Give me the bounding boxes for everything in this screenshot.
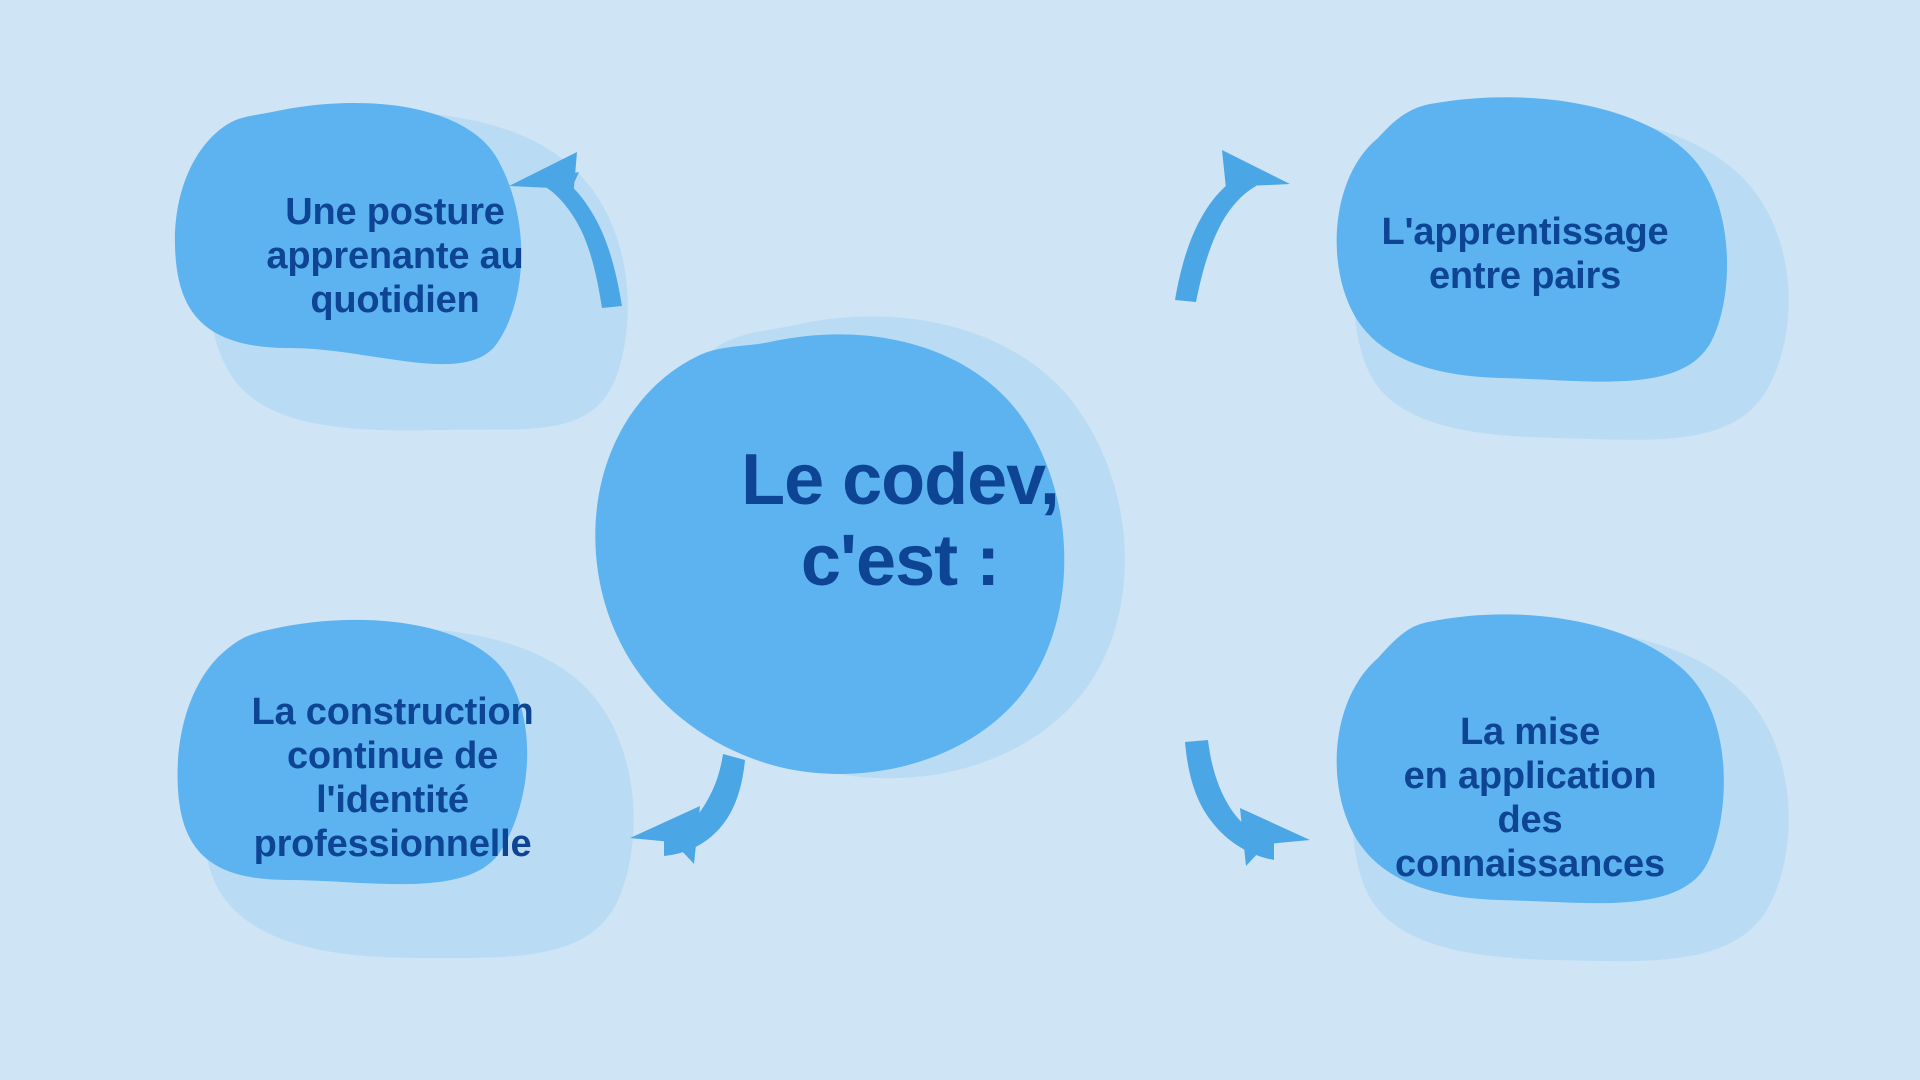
node-br-blob (1337, 614, 1724, 903)
blob-shapes (175, 97, 1727, 903)
diagram-canvas: Le codev, c'est : Une posture apprenante… (0, 0, 1920, 1080)
node-tr-blob (1337, 97, 1727, 381)
diagram-shapes (0, 0, 1920, 1080)
arrow-top-right-head (1222, 150, 1290, 208)
node-tl-blob (175, 103, 521, 364)
center-blob (595, 334, 1064, 774)
arrow-bottom-right-head (1240, 808, 1310, 866)
node-bl-blob (178, 620, 528, 884)
